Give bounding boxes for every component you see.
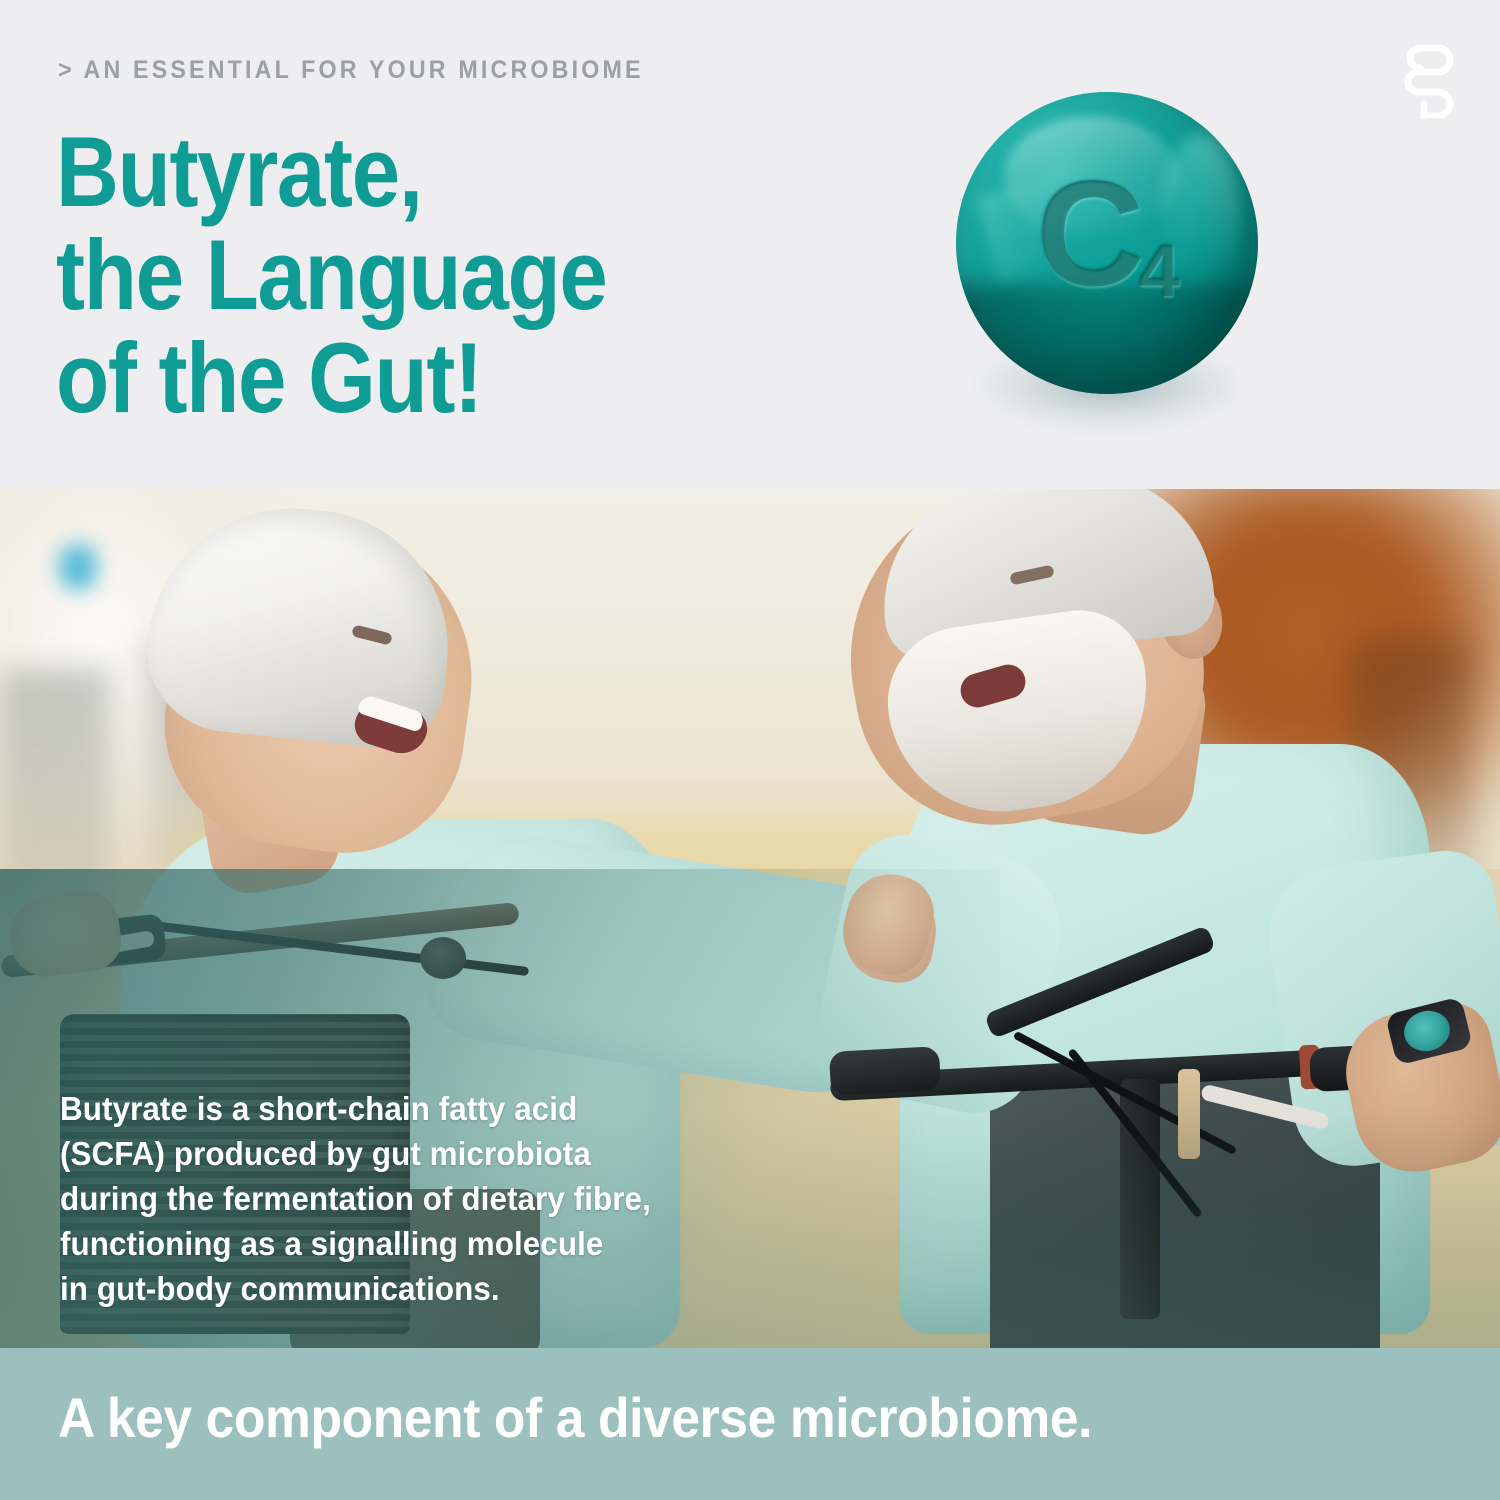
eyebrow-text: > AN ESSENTIAL FOR YOUR MICROBIOME [58, 56, 644, 85]
sphere-body: C 4 [956, 92, 1258, 394]
header-panel: > AN ESSENTIAL FOR YOUR MICROBIOME Butyr… [0, 0, 1500, 489]
body-line-5: in gut-body communications. [60, 1266, 744, 1311]
banner-tagline: A key component of a diverse microbiome. [58, 1388, 1092, 1448]
sphere-label: C 4 [956, 92, 1258, 394]
carbon-count: 4 [1139, 234, 1180, 308]
butyrate-c4-sphere: C 4 [948, 92, 1268, 440]
headline-line-2: the Language [56, 223, 606, 326]
butyrate-infographic-poster: > AN ESSENTIAL FOR YOUR MICROBIOME Butyr… [0, 0, 1500, 1500]
body-line-4: functioning as a signalling molecule [60, 1221, 744, 1266]
bottom-banner: A key component of a diverse microbiome. [0, 1348, 1500, 1500]
body-line-3: during the fermentation of dietary fibre… [60, 1176, 744, 1221]
gut-intestine-logo-icon [1394, 42, 1458, 118]
body-line-1: Butyrate is a short-chain fatty acid [60, 1086, 744, 1131]
page-title: Butyrate, the Language of the Gut! [56, 120, 606, 429]
headline-line-3: of the Gut! [56, 326, 606, 429]
body-paragraph: Butyrate is a short-chain fatty acid (SC… [60, 1086, 744, 1311]
body-line-2: (SCFA) produced by gut microbiota [60, 1131, 744, 1176]
background-blue-sign [56, 541, 100, 593]
carbon-symbol: C [1036, 158, 1140, 308]
headline-line-1: Butyrate, [56, 120, 606, 223]
